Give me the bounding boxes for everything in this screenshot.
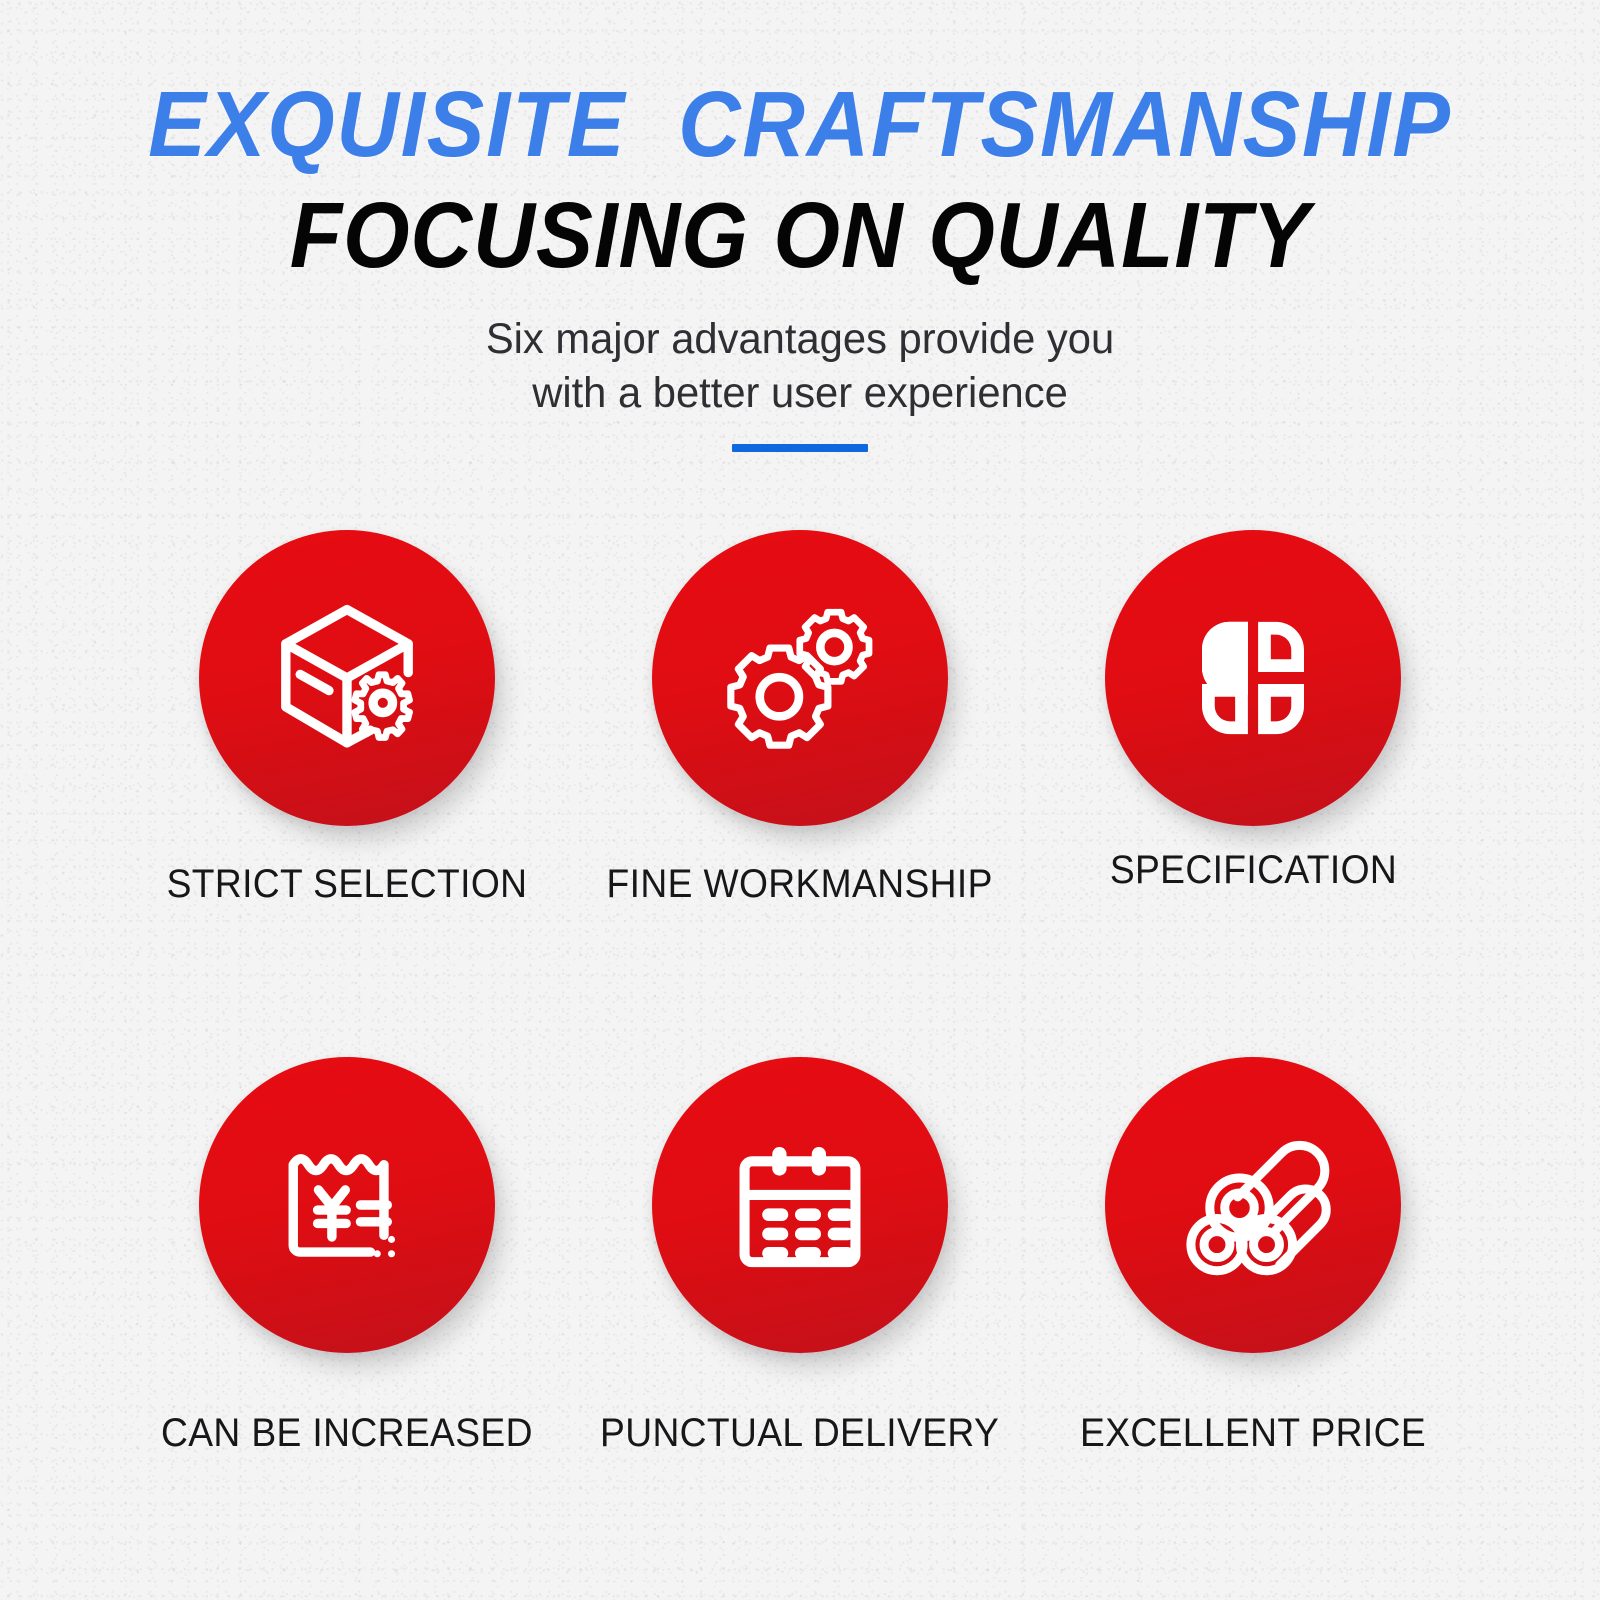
- divider-wrapper: [0, 444, 1600, 452]
- feature-label: PUNCTUAL DELIVERY: [600, 1411, 999, 1456]
- headline-secondary: FOCUSING ON QUALITY: [64, 189, 1536, 282]
- feature-icon-badge: [1105, 1057, 1401, 1353]
- feature-item-punctual-delivery: PUNCTUAL DELIVERY: [573, 1057, 1026, 1456]
- feature-icon-badge: [199, 530, 495, 826]
- feature-icon-badge: [199, 1057, 495, 1353]
- feature-label: FINE WORKMANSHIP: [607, 862, 993, 907]
- feature-icon-badge: [652, 530, 948, 826]
- feature-icon-badge: [652, 1057, 948, 1353]
- feature-label: SPECIFICATION: [1110, 848, 1397, 893]
- feature-item-excellent-price: EXCELLENT PRICE: [1027, 1057, 1480, 1456]
- feature-item-can-be-increased: CAN BE INCREASED: [120, 1057, 573, 1456]
- two-gears-icon: [714, 592, 886, 764]
- calendar-icon: [716, 1121, 884, 1289]
- feature-grid: STRICT SELECTION: [0, 530, 1600, 1456]
- feature-label: CAN BE INCREASED: [161, 1411, 533, 1456]
- header: EXQUISITE CRAFTSMANSHIP FOCUSING ON QUAL…: [0, 0, 1600, 452]
- stacked-pipes-icon: [1163, 1115, 1343, 1295]
- four-squares-grid-icon: [1168, 593, 1338, 763]
- box-gear-icon: [257, 588, 437, 768]
- feature-icon-badge: [1105, 530, 1401, 826]
- feature-item-specification: SPECIFICATION: [1027, 530, 1480, 907]
- yen-receipt-icon: [263, 1121, 431, 1289]
- subtitle-line-2: with a better user experience: [24, 366, 1576, 420]
- subtitle-line-1: Six major advantages provide you: [24, 312, 1576, 366]
- feature-item-strict-selection: STRICT SELECTION: [120, 530, 573, 907]
- blue-divider-bar: [732, 444, 868, 452]
- feature-item-fine-workmanship: FINE WORKMANSHIP: [573, 530, 1026, 907]
- feature-label: STRICT SELECTION: [166, 862, 527, 907]
- feature-label: EXCELLENT PRICE: [1080, 1411, 1426, 1456]
- subtitle: Six major advantages provide you with a …: [24, 312, 1576, 420]
- headline-primary: EXQUISITE CRAFTSMANSHIP: [56, 78, 1544, 171]
